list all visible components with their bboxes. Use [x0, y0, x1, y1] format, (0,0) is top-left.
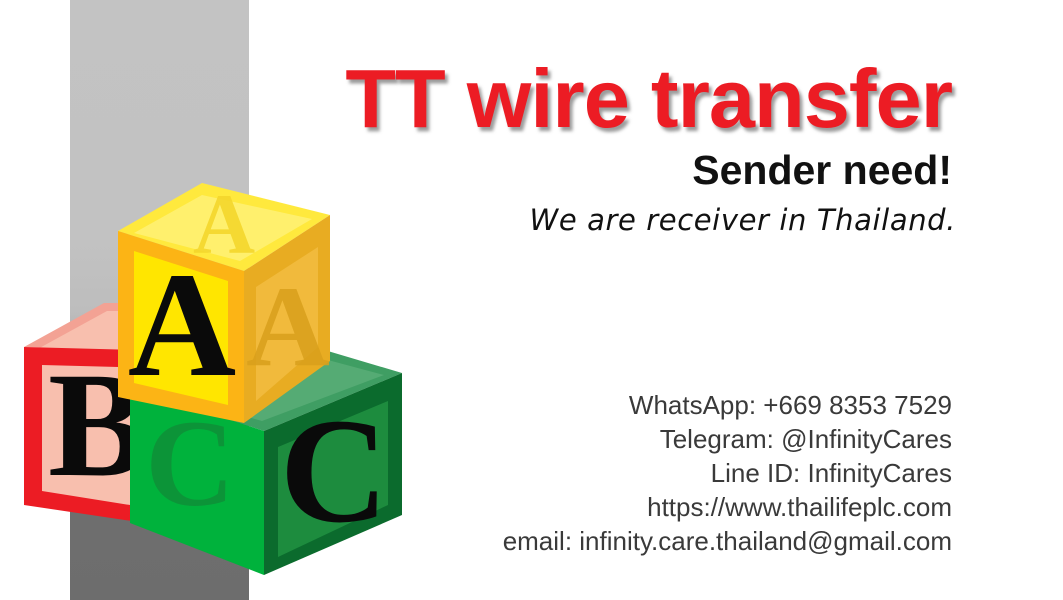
contact-line-whatsapp[interactable]: WhatsApp: +669 8353 7529: [260, 388, 952, 422]
block-letter-a: A: [128, 242, 236, 408]
tagline: We are receiver in Thailand.: [264, 203, 956, 238]
poster-canvas: B B C C: [0, 0, 1063, 600]
contact-line-email[interactable]: email: infinity.care.thailand@gmail.com: [260, 524, 952, 558]
contact-block: WhatsApp: +669 8353 7529 Telegram: @Infi…: [260, 388, 952, 558]
contact-line-website[interactable]: https://www.thailifeplc.com: [260, 490, 952, 524]
subtitle: Sender need!: [260, 148, 952, 193]
contact-line-telegram[interactable]: Telegram: @InfinityCares: [260, 422, 952, 456]
page-title: TT wire transfer: [260, 57, 952, 140]
contact-line-lineid[interactable]: Line ID: InfinityCares: [260, 456, 952, 490]
text-column: TT wire transfer Sender need! We are rec…: [260, 0, 952, 600]
